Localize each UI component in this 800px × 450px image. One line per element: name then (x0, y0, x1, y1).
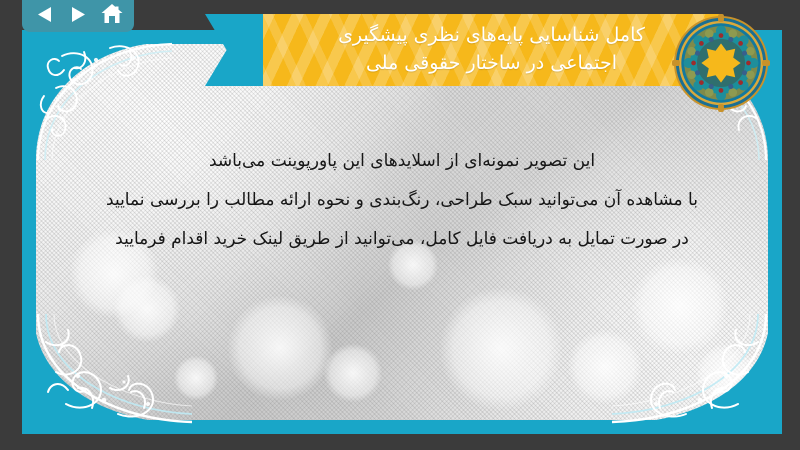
banner-body: کامل شناسایی پایه‌های نظری پیشگیری اجتما… (263, 14, 720, 86)
forward-button[interactable] (65, 2, 91, 26)
bokeh-circle (324, 344, 382, 402)
slide-body-text: این تصویر نمونه‌ای از اسلایدهای این پاور… (62, 142, 742, 259)
home-icon (101, 4, 123, 24)
slide-viewer: این تصویر نمونه‌ای از اسلایدهای این پاور… (0, 0, 800, 450)
body-line: با مشاهده آن می‌توانید سبک طراحی، رنگ‌بن… (62, 181, 742, 220)
home-button[interactable] (99, 2, 125, 26)
back-button[interactable] (31, 2, 57, 26)
back-arrow-icon (37, 6, 52, 23)
body-line: این تصویر نمونه‌ای از اسلایدهای این پاور… (62, 142, 742, 181)
slide-frame: این تصویر نمونه‌ای از اسلایدهای این پاور… (22, 30, 782, 434)
page-title-line2: اجتماعی در ساختار حقوقی ملی (366, 50, 617, 78)
bokeh-circle (114, 276, 180, 342)
banner-pennant-tail (205, 14, 265, 86)
bokeh-circle (696, 344, 756, 404)
bokeh-circle (174, 356, 218, 400)
forward-arrow-icon (71, 6, 86, 23)
page-title-line1: کامل شناسایی پایه‌های نظری پیشگیری (338, 22, 645, 50)
navigation-bar (22, 0, 134, 32)
bokeh-circle (440, 288, 562, 410)
bokeh-circle (632, 258, 728, 354)
body-line: در صورت تمایل به دریافت فایل کامل، می‌تو… (62, 220, 742, 259)
title-banner: کامل شناسایی پایه‌های نظری پیشگیری اجتما… (205, 14, 720, 86)
bokeh-circle (228, 296, 332, 400)
bokeh-circle (568, 330, 642, 404)
persian-medallion-icon (672, 14, 770, 112)
